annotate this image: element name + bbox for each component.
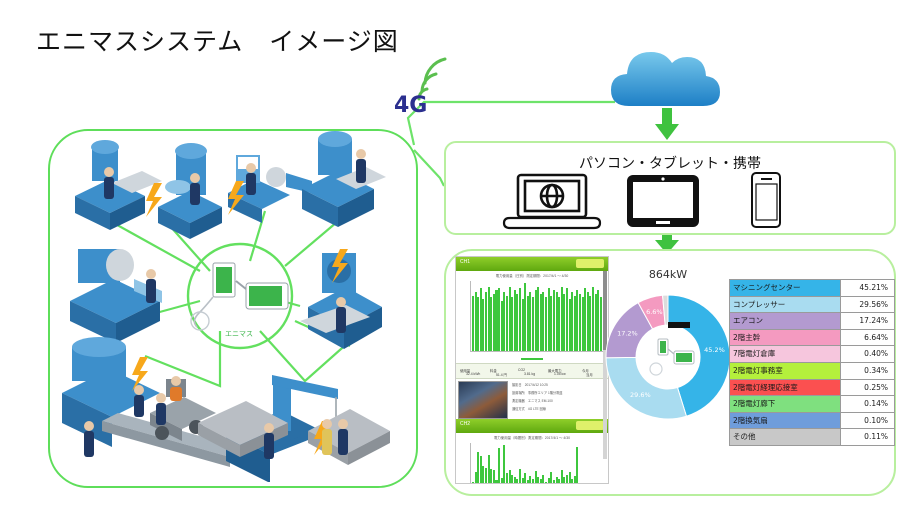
donut-slice-label: 45.2% (704, 346, 725, 354)
arrow-cloud-to-devices (655, 108, 679, 140)
tablet-icon (627, 175, 699, 227)
photo-caption-0: 撮影日 2017/4/12 10:25 (512, 382, 606, 387)
photo-caption-3: 通信方式 4G LTE 回線 (512, 406, 606, 411)
table-row: その他0.11% (730, 429, 895, 446)
donut-center-icon (650, 339, 694, 375)
summary-v4: 当月 (586, 372, 593, 377)
table-row: 2階電灯廊下0.14% (730, 396, 895, 413)
summary-v2: 3.81 kg (524, 372, 535, 376)
summary-row: 使用量 料金 CO2 最大電力 今月 32.4 kWh 51.4 円 3.81 … (456, 363, 608, 379)
row-label: 2階電灯経理応接室 (730, 379, 841, 396)
summary-v3: 1.05 kw (554, 372, 566, 376)
gateway-device-icon (191, 263, 288, 330)
panel2-bars (472, 445, 602, 484)
summary-v0: 32.4 kWh (466, 372, 480, 376)
photo-caption-1: 設置場所 事務所エリア 1階分電盤 (512, 390, 606, 395)
summary-v1: 51.4 円 (496, 372, 507, 377)
machine-cnc-4 (302, 131, 386, 227)
row-value: 17.24% (841, 313, 895, 330)
bar (576, 447, 578, 484)
row-label: マシニングセンター (730, 280, 841, 297)
hub-label: エニマス (225, 330, 253, 338)
energy-donut-chart: 864kW 45.2%29.6%17.2%6.6% (598, 268, 738, 433)
row-label: 2階電灯廊下 (730, 396, 841, 413)
cloud-icon (611, 52, 720, 106)
machine-lathe-3 (228, 155, 312, 223)
panel1-header-label: CH1 (460, 259, 470, 265)
factory-panel: エニマス (48, 129, 418, 488)
dashboard-screenshot[interactable]: CH1 電力使用量（日別）測定期間：2017/4/1 ～ 4/30 使用量 料金… (455, 256, 609, 484)
devices-title: パソコン・タブレット・携帯 (446, 153, 894, 173)
row-value: 29.56% (841, 296, 895, 313)
table-row: 2階電灯経理応接室0.25% (730, 379, 895, 396)
panel1-graph-button[interactable] (576, 259, 604, 268)
panel2-chart-title: 電力使用量（時間別）測定期間：2017/4/1 ～ 4/30 (456, 435, 608, 440)
devices-panel: パソコン・タブレット・携帯 (444, 141, 896, 235)
row-label: 2階電灯事務室 (730, 362, 841, 379)
row-label: その他 (730, 429, 841, 446)
machine-milling-1 (75, 140, 162, 230)
site-photo (458, 381, 508, 419)
donut-slice (606, 357, 686, 419)
row-value: 0.34% (841, 362, 895, 379)
donut-svg: 45.2%29.6%17.2%6.6% (598, 287, 738, 427)
row-value: 0.40% (841, 346, 895, 363)
table-row: エアコン17.24% (730, 313, 895, 330)
row-value: 45.21% (841, 280, 895, 297)
table-row: 7階電灯倉庫0.40% (730, 346, 895, 363)
device-icons (446, 171, 894, 233)
table-row: 2階電灯事務室0.34% (730, 362, 895, 379)
row-value: 6.64% (841, 329, 895, 346)
panel1-x-axis (470, 351, 604, 352)
row-value: 0.10% (841, 412, 895, 429)
row-label: コンプレッサー (730, 296, 841, 313)
donut-slice-label: 17.2% (617, 329, 638, 337)
panel1-header: CH1 (456, 257, 608, 271)
row-value: 0.14% (841, 396, 895, 413)
panel1-y-axis (458, 281, 471, 351)
energy-breakdown-table: マシニングセンター45.21%コンプレッサー29.56%エアコン17.24%2階… (729, 279, 895, 446)
line-factory-to-cloud (408, 102, 615, 145)
row-value: 0.11% (841, 429, 895, 446)
panel1-legend (521, 358, 543, 360)
photo-row: 撮影日 2017/4/12 10:25 設置場所 事務所エリア 1階分電盤 測定… (456, 379, 608, 419)
phone-icon (752, 173, 780, 227)
donut-total-label: 864kW (598, 268, 738, 281)
row-label: エアコン (730, 313, 841, 330)
row-label: 7階電灯倉庫 (730, 346, 841, 363)
panel2-header-label: CH2 (460, 421, 470, 427)
laptop-icon (504, 175, 600, 228)
panel2-header: CH2 (456, 419, 608, 433)
donut-slice-label: 6.6% (646, 308, 663, 316)
panel2-y-axis (458, 443, 471, 484)
donut-slice-label: 29.6% (630, 391, 651, 399)
row-label: 2階主幹 (730, 329, 841, 346)
factory-illustration: エニマス (50, 131, 412, 482)
photo-caption-2: 測定機器 エニマス EM-100 (512, 398, 606, 403)
row-label: 2階換気扇 (730, 412, 841, 429)
panel2-chart: 電力使用量（時間別）測定期間：2017/4/1 ～ 4/30 (456, 433, 608, 484)
panel1-bars (472, 283, 602, 351)
table-row: 2階換気扇0.10% (730, 412, 895, 429)
photo-captions: 撮影日 2017/4/12 10:25 設置場所 事務所エリア 1階分電盤 測定… (510, 379, 608, 419)
panel1-chart: 電力使用量（日別）測定期間：2017/4/1 ～ 4/30 (456, 271, 608, 363)
panel1-chart-title: 電力使用量（日別）測定期間：2017/4/1 ～ 4/30 (456, 273, 608, 278)
table-row: マシニングセンター45.21% (730, 280, 895, 297)
row-value: 0.25% (841, 379, 895, 396)
mobile-network-label: 4G (394, 93, 427, 118)
line-factory-to-devices (414, 150, 444, 186)
table-row: コンプレッサー29.56% (730, 296, 895, 313)
table-row: 2階主幹6.64% (730, 329, 895, 346)
